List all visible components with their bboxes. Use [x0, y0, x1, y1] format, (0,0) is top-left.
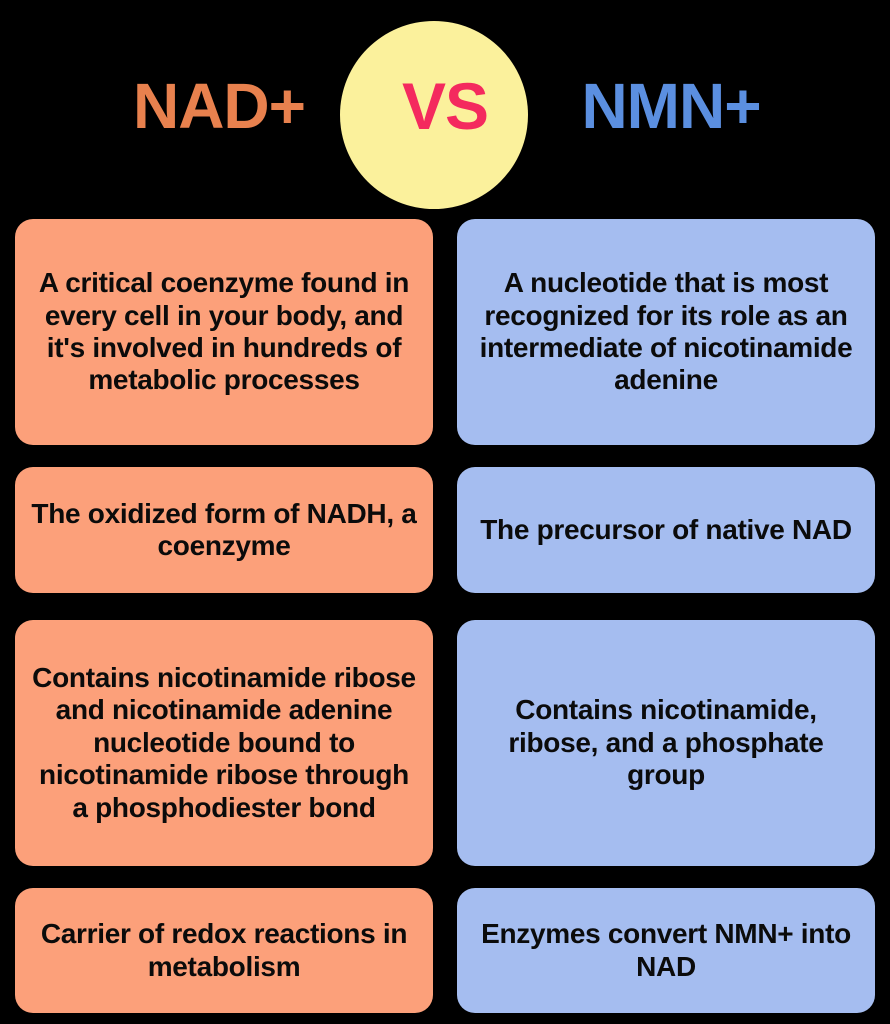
nmn-card-text: A nucleotide that is most recognized for…	[473, 267, 859, 397]
infographic-canvas: NAD+ VS NMN+ A critical coenzyme found i…	[0, 0, 890, 1024]
nad-card: Contains nicotinamide ribose and nicotin…	[15, 620, 433, 866]
nmn-card: Contains nicotinamide, ribose, and a pho…	[457, 620, 875, 866]
nmn-card-text: Contains nicotinamide, ribose, and a pho…	[473, 694, 859, 791]
comparison-row: A critical coenzyme found in every cell …	[15, 219, 875, 445]
nad-card-text: Carrier of redox reactions in metabolism	[31, 918, 417, 983]
row-gap	[15, 593, 875, 620]
nad-card: Carrier of redox reactions in metabolism	[15, 888, 433, 1013]
nmn-card-text: The precursor of native NAD	[480, 514, 852, 546]
nad-card: The oxidized form of NADH, a coenzyme	[15, 467, 433, 593]
nad-card: A critical coenzyme found in every cell …	[15, 219, 433, 445]
nad-card-text: Contains nicotinamide ribose and nicotin…	[31, 662, 417, 824]
nmn-card-text: Enzymes convert NMN+ into NAD	[473, 918, 859, 983]
page-title-right: NMN+	[538, 74, 804, 138]
comparison-grid: A critical coenzyme found in every cell …	[15, 219, 875, 1013]
nmn-card: The precursor of native NAD	[457, 467, 875, 593]
nmn-card: Enzymes convert NMN+ into NAD	[457, 888, 875, 1013]
row-gap	[15, 866, 875, 888]
nad-card-text: A critical coenzyme found in every cell …	[31, 267, 417, 397]
versus-label: VS	[360, 73, 530, 139]
page-title-left: NAD+	[86, 74, 352, 138]
comparison-row: The oxidized form of NADH, a coenzyme Th…	[15, 467, 875, 593]
title-row: NAD+ VS NMN+	[0, 0, 890, 212]
comparison-row: Carrier of redox reactions in metabolism…	[15, 888, 875, 1013]
row-gap	[15, 445, 875, 467]
nad-card-text: The oxidized form of NADH, a coenzyme	[31, 498, 417, 563]
comparison-row: Contains nicotinamide ribose and nicotin…	[15, 620, 875, 866]
nmn-card: A nucleotide that is most recognized for…	[457, 219, 875, 445]
header: NAD+ VS NMN+	[0, 0, 890, 212]
